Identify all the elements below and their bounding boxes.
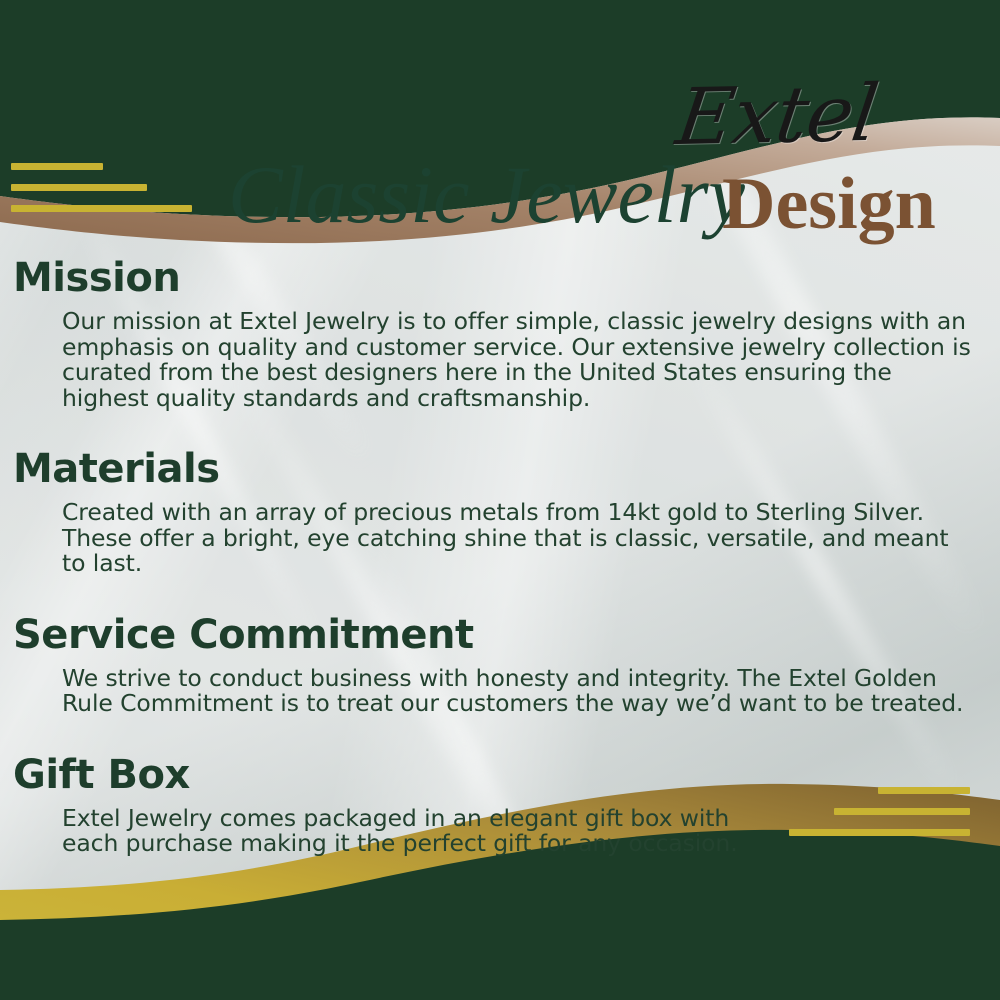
section-body-service-commitment: We strive to conduct business with hones…	[62, 666, 977, 717]
gold-rule-medium	[11, 184, 147, 191]
title-classic-jewelry: Classic Jewelry	[228, 148, 745, 242]
gold-rule-short	[11, 163, 103, 170]
section-heading-service-commitment: Service Commitment	[13, 609, 1000, 661]
section-mission: Mission Our mission at Extel Jewelry is …	[0, 252, 1000, 411]
title-design: Design	[722, 162, 936, 247]
section-heading-mission: Mission	[13, 252, 1000, 304]
section-materials: Materials Created with an array of preci…	[0, 443, 1000, 577]
section-heading-gift-box: Gift Box	[13, 749, 1000, 801]
gold-rules-top-left	[11, 163, 192, 226]
gold-rule-long	[11, 205, 192, 212]
content-sections: Mission Our mission at Extel Jewelry is …	[0, 252, 1000, 863]
section-heading-materials: Materials	[13, 443, 1000, 495]
poster-canvas: Extel Classic Jewelry Design Mission Our…	[0, 0, 1000, 1000]
section-gift-box: Gift Box Extel Jewelry comes packaged in…	[0, 749, 1000, 857]
section-body-mission: Our mission at Extel Jewelry is to offer…	[62, 309, 977, 411]
section-body-gift-box: Extel Jewelry comes packaged in an elega…	[62, 806, 772, 857]
section-body-materials: Created with an array of precious metals…	[62, 500, 977, 577]
section-service-commitment: Service Commitment We strive to conduct …	[0, 609, 1000, 717]
